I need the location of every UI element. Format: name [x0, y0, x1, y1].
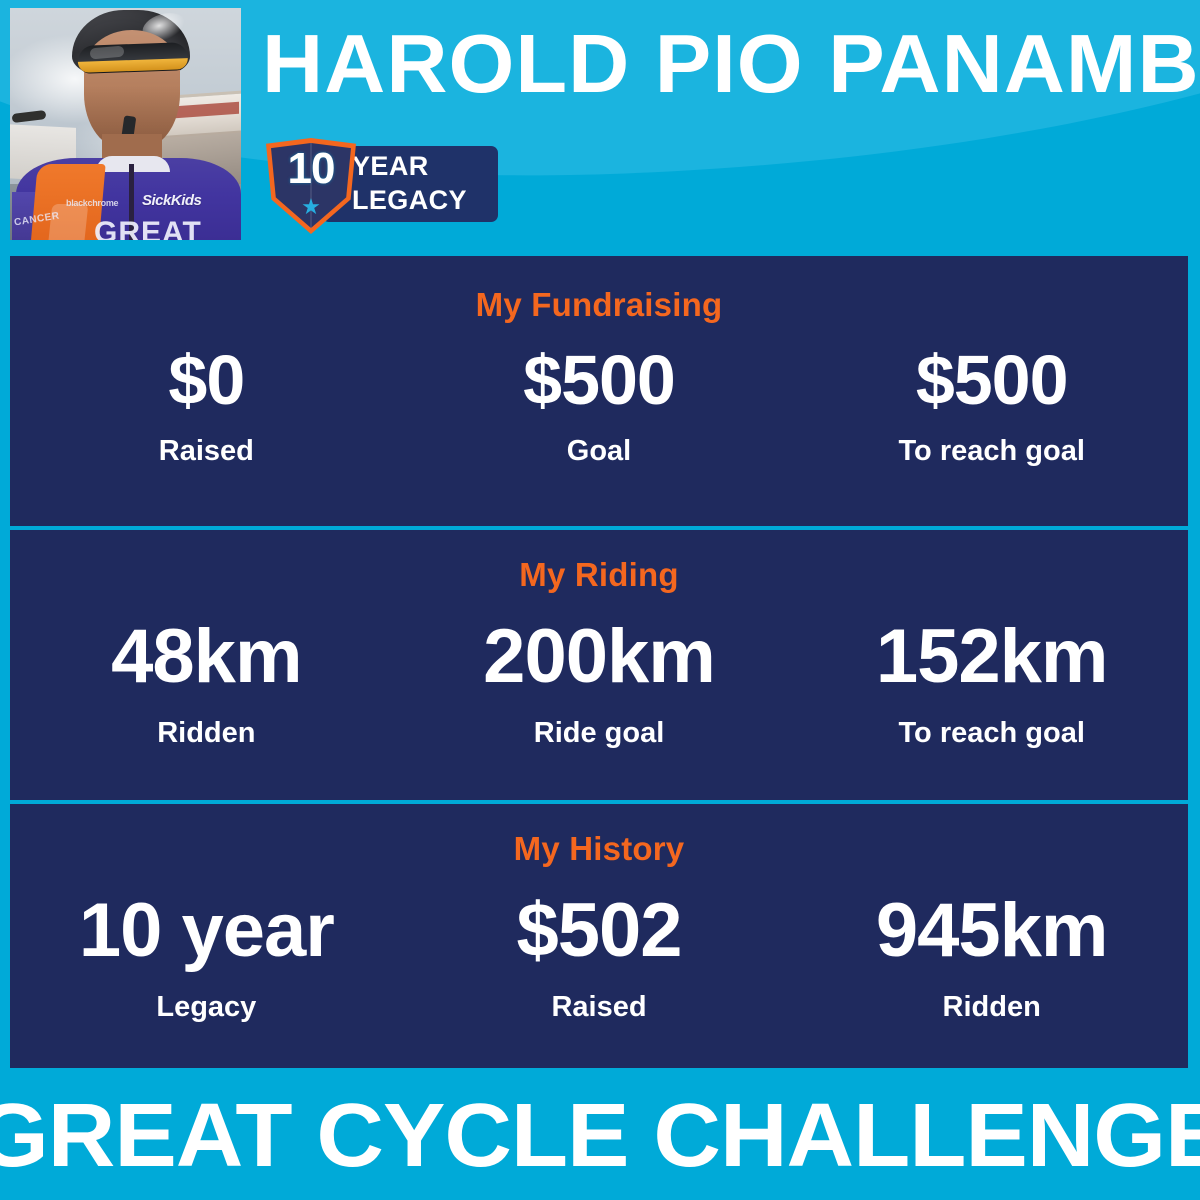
- stat-ridden: 48km Ridden: [10, 612, 403, 782]
- stat-label: Legacy: [156, 990, 256, 1024]
- stat-label: Ridden: [943, 990, 1041, 1024]
- stat-value: $500: [916, 338, 1068, 422]
- stat-to-reach-goal: $500 To reach goal: [795, 338, 1188, 508]
- star-icon: ★: [300, 196, 322, 218]
- stat-value: $502: [516, 886, 681, 976]
- stat-legacy: 10 year Legacy: [10, 886, 403, 1056]
- great-cycle-challenge-wordmark: GREAT CYCLE CHALLENGE: [0, 1084, 1200, 1188]
- stat-value: 200km: [483, 612, 715, 702]
- stat-value: $500: [523, 338, 675, 422]
- stats-row-riding: 48km Ridden 200km Ride goal 152km To rea…: [10, 612, 1188, 782]
- photo-jersey-logo-blackchrome: blackchrome: [66, 198, 128, 210]
- section-riding: My Riding 48km Ridden 200km Ride goal 15…: [10, 530, 1188, 800]
- stat-label: Ridden: [157, 716, 255, 750]
- stat-label: Goal: [567, 434, 631, 468]
- fundraising-stats-poster: blackchrome SickKids GREAT CANCER HAROLD…: [0, 0, 1200, 1200]
- shield-icon: 10 ★: [266, 138, 356, 234]
- rider-photo: blackchrome SickKids GREAT CANCER: [10, 8, 241, 240]
- photo-jersey-logo-great: GREAT: [94, 216, 202, 240]
- legacy-badge-line-year: YEAR: [352, 149, 502, 183]
- stat-history-ridden: 945km Ridden: [795, 886, 1188, 1056]
- stat-ride-goal: 200km Ride goal: [403, 612, 796, 782]
- stat-label: Raised: [551, 990, 646, 1024]
- photo-jersey-logo-sickkids: SickKids: [142, 192, 201, 209]
- stat-value: 152km: [876, 612, 1108, 702]
- section-fundraising: My Fundraising $0 Raised $500 Goal $500 …: [10, 256, 1188, 526]
- stat-value: 10 year: [79, 886, 334, 976]
- stats-row-history: 10 year Legacy $502 Raised 945km Ridden: [10, 886, 1188, 1056]
- legacy-badge-line-legacy: LEGACY: [352, 183, 502, 217]
- stat-value: 48km: [111, 612, 301, 702]
- stat-goal: $500 Goal: [403, 338, 796, 508]
- section-history: My History 10 year Legacy $502 Raised 94…: [10, 804, 1188, 1068]
- stat-ride-to-reach-goal: 152km To reach goal: [795, 612, 1188, 782]
- section-title-history: My History: [10, 830, 1188, 868]
- poster-footer: GREAT CYCLE CHALLENGE: [0, 1068, 1200, 1200]
- legacy-badge: YEAR LEGACY 10 ★: [266, 138, 506, 234]
- stat-label: To reach goal: [898, 434, 1084, 468]
- section-title-fundraising: My Fundraising: [10, 286, 1188, 324]
- stat-value: $0: [168, 338, 244, 422]
- stat-label: To reach goal: [898, 716, 1084, 750]
- legacy-badge-years: 10: [266, 146, 356, 192]
- rider-name-title: HAROLD PIO PANAMBO: [262, 14, 1200, 114]
- stat-value: 945km: [876, 886, 1108, 976]
- stats-row-fundraising: $0 Raised $500 Goal $500 To reach goal: [10, 338, 1188, 508]
- stat-label: Raised: [159, 434, 254, 468]
- stat-raised: $0 Raised: [10, 338, 403, 508]
- stats-panel: My Fundraising $0 Raised $500 Goal $500 …: [10, 256, 1188, 1068]
- section-title-riding: My Riding: [10, 556, 1188, 594]
- stat-label: Ride goal: [534, 716, 665, 750]
- stat-history-raised: $502 Raised: [403, 886, 796, 1056]
- legacy-badge-plate-text: YEAR LEGACY: [352, 149, 502, 217]
- poster-header: blackchrome SickKids GREAT CANCER HAROLD…: [0, 0, 1200, 256]
